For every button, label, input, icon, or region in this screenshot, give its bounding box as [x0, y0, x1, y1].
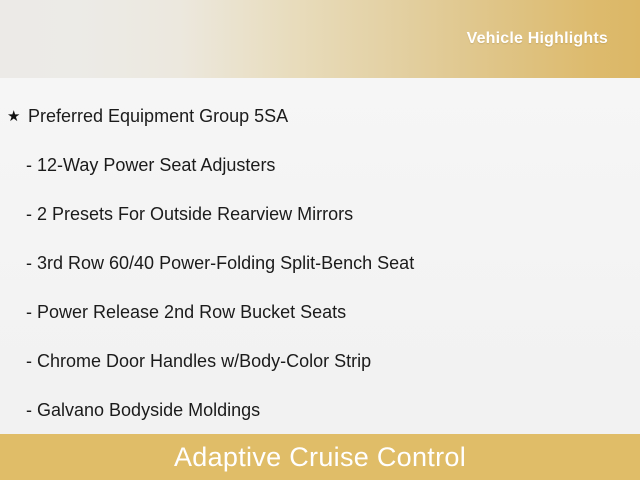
footer-bar: Adaptive Cruise Control: [0, 434, 640, 480]
list-item-label: - 2 Presets For Outside Rearview Mirrors: [26, 204, 353, 224]
list-item-label: - Power Release 2nd Row Bucket Seats: [26, 302, 346, 322]
list-item: ★ Preferred Equipment Group 5SA: [0, 92, 640, 141]
list-item: - Galvano Bodyside Moldings: [0, 386, 640, 435]
list-item-label: - 3rd Row 60/40 Power-Folding Split-Benc…: [26, 253, 414, 273]
vehicle-highlights-slide: Vehicle Highlights ★ Preferred Equipment…: [0, 0, 640, 480]
footer-caption: Adaptive Cruise Control: [0, 434, 640, 480]
list-item: - 3rd Row 60/40 Power-Folding Split-Benc…: [0, 239, 640, 288]
page-title: Vehicle Highlights: [467, 30, 608, 48]
list-item: - Chrome Door Handles w/Body-Color Strip: [0, 337, 640, 386]
list-item-label: - Galvano Bodyside Moldings: [26, 400, 260, 420]
list-item: - 12-Way Power Seat Adjusters: [0, 141, 640, 190]
highlights-list: ★ Preferred Equipment Group 5SA - 12-Way…: [0, 78, 640, 434]
star-icon: ★: [7, 92, 20, 141]
list-item-label: Preferred Equipment Group 5SA: [28, 106, 288, 126]
list-item-label: - Chrome Door Handles w/Body-Color Strip: [26, 351, 371, 371]
list-item-label: - 12-Way Power Seat Adjusters: [26, 155, 275, 175]
list-item: - Power Release 2nd Row Bucket Seats: [0, 288, 640, 337]
header-banner: Vehicle Highlights: [0, 0, 640, 78]
list-item: - 2 Presets For Outside Rearview Mirrors: [0, 190, 640, 239]
